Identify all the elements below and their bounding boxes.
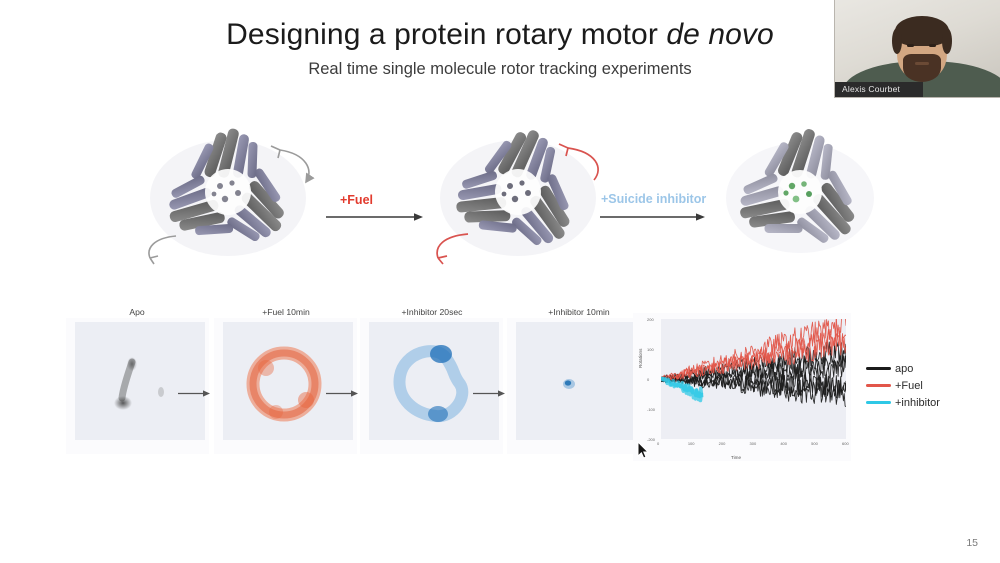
trace-plot-legend: apo +Fuel +inhibitor: [866, 360, 940, 411]
panel-title-fuel: +Fuel 10min: [211, 307, 361, 317]
legend-label-apo: apo: [895, 363, 913, 375]
panel-title-apo: Apo: [62, 307, 212, 317]
structure-fueled: [418, 106, 618, 274]
panel-title-inhibitor-20sec: +Inhibitor 20sec: [357, 307, 507, 317]
legend-swatch-fuel: [866, 384, 891, 387]
webcam-beard: [903, 54, 941, 82]
legend-label-fuel: +Fuel: [895, 380, 923, 392]
arrow-inhibitor-icon: [600, 212, 708, 222]
transition-label-inhibitor: +Suicide inhibitor: [601, 192, 706, 206]
x-tick-600: 600: [842, 441, 849, 446]
y-tick-100: 100: [647, 347, 654, 352]
title-main-text: Designing a protein rotary motor: [226, 18, 666, 51]
x-tick-300: 300: [750, 441, 757, 446]
webcam-eye-right: [929, 44, 936, 47]
panel-apo: [66, 318, 209, 454]
x-tick-100: 100: [688, 441, 695, 446]
panel-title-inhibitor-10min: +Inhibitor 10min: [504, 307, 654, 317]
legend-swatch-inhibitor: [866, 401, 891, 404]
participant-name-label: Alexis Courbet: [835, 82, 923, 97]
x-tick-0: 0: [657, 441, 659, 446]
trace-plot-series: [661, 319, 846, 439]
panel-apo-trajectory: [66, 318, 209, 454]
panel-arrow-3-icon: [473, 389, 506, 398]
y-tick-200: 200: [647, 317, 654, 322]
title-italic-text: de novo: [666, 18, 773, 51]
legend-swatch-apo: [866, 367, 891, 370]
panel-inhibitor-10min-trajectory: [507, 318, 650, 454]
legend-item-fuel: +Fuel: [866, 377, 940, 394]
panel-arrow-2-icon: [326, 389, 359, 398]
fueled-rotor-render: [418, 106, 618, 274]
x-axis-label: Time: [731, 455, 741, 460]
x-tick-400: 400: [780, 441, 787, 446]
arrow-fuel-icon: [326, 212, 426, 222]
x-tick-500: 500: [811, 441, 818, 446]
y-axis-label: Rotations: [638, 349, 643, 368]
legend-item-inhibitor: +inhibitor: [866, 394, 940, 411]
panel-inhibitor-20sec-trajectory: [360, 318, 503, 454]
apo-rotor-render: [128, 106, 328, 274]
legend-item-apo: apo: [866, 360, 940, 377]
webcam-mouth: [915, 62, 929, 65]
slide-number: 15: [966, 537, 978, 549]
panel-inhibitor-10min: [507, 318, 650, 454]
x-tick-200: 200: [719, 441, 726, 446]
y-tick-0: 0: [647, 377, 649, 382]
webcam-overlay[interactable]: Alexis Courbet: [834, 0, 1000, 98]
y-tick--100: -100: [647, 407, 655, 412]
structure-inhibited: [700, 106, 900, 274]
panel-inhibitor-20sec: [360, 318, 503, 454]
rotation-trace-plot: [633, 313, 851, 461]
panel-fuel-trajectory: [214, 318, 357, 454]
structure-apo: [128, 106, 328, 274]
legend-label-inhibitor: +inhibitor: [895, 397, 940, 409]
panel-arrow-1-icon: [178, 389, 211, 398]
transition-label-fuel: +Fuel: [340, 193, 373, 207]
mouse-cursor-icon: [637, 441, 650, 460]
webcam-hair: [895, 16, 949, 46]
webcam-eye-left: [907, 44, 914, 47]
inhibited-rotor-render: [700, 106, 900, 274]
panel-fuel: [214, 318, 357, 454]
